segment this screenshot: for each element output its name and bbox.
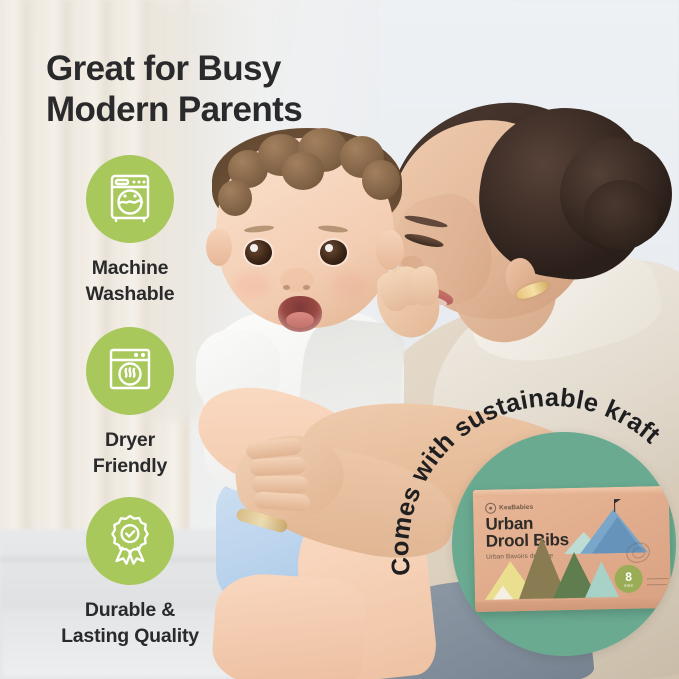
tumble-dryer-icon (103, 342, 157, 401)
feature-dryer-friendly: Dryer Friendly (42, 327, 218, 479)
feature-label-line-2: Lasting Quality (42, 624, 218, 650)
mountain-graphic-snow (493, 585, 513, 599)
pack-count-label: BIBS (624, 583, 633, 587)
feature-label-line-1: Machine (42, 256, 218, 282)
baby-hair-curl (218, 180, 252, 216)
feature-durable-quality: Durable & Lasting Quality (42, 497, 218, 649)
mother-hair-bun-lower (584, 180, 658, 250)
baby-eye (320, 240, 347, 265)
heading-line-2: Modern Parents (46, 89, 302, 130)
feature-label-line-2: Friendly (42, 454, 218, 480)
baby-tongue (286, 312, 314, 328)
baby-cheek (332, 272, 368, 298)
feature-label-line-1: Dryer (42, 428, 218, 454)
pack-count-number: 8 (625, 570, 632, 582)
feature-machine-washable: Machine Washable (42, 155, 218, 307)
washing-machine-icon (103, 170, 157, 229)
brand-logo: KeaBabies (485, 502, 533, 514)
kraft-box-callout-circle: KeaBabies Urban Drool Bibs Urban Bavoirs… (452, 432, 676, 656)
baby-eye-highlight (250, 244, 258, 252)
page-title: Great for Busy Modern Parents (46, 48, 302, 131)
baby-nostril (303, 285, 310, 290)
feature-label-line-2: Washable (42, 282, 218, 308)
baby-eye (245, 240, 272, 265)
baby-ear-right (376, 230, 404, 270)
product-marketing-image: Great for Busy Modern Parents (0, 0, 679, 679)
feature-label: Machine Washable (42, 256, 218, 307)
feature-label: Durable & Lasting Quality (42, 598, 218, 649)
baby-hair-curl (362, 160, 400, 200)
baby-leg-left (210, 571, 367, 679)
feature-label: Dryer Friendly (42, 428, 218, 479)
feature-icon-disc (86, 327, 174, 415)
baby-cheek (234, 272, 270, 298)
baby-hair-curl (282, 152, 324, 190)
award-ribbon-check-icon (102, 511, 158, 572)
feature-icon-disc (86, 155, 174, 243)
baby-nostril (283, 285, 290, 290)
mother-finger (252, 476, 308, 493)
baby-eye-highlight (325, 244, 333, 252)
product-box: KeaBabies Urban Drool Bibs Urban Bavoirs… (473, 486, 672, 612)
feature-label-line-1: Durable & (42, 598, 218, 624)
brand-name: KeaBabies (499, 504, 533, 512)
feature-icon-disc (86, 497, 174, 585)
brand-mark-icon (485, 503, 496, 514)
heading-line-1: Great for Busy (46, 48, 302, 89)
mother-finger (250, 457, 307, 477)
flag-icon (615, 499, 621, 503)
